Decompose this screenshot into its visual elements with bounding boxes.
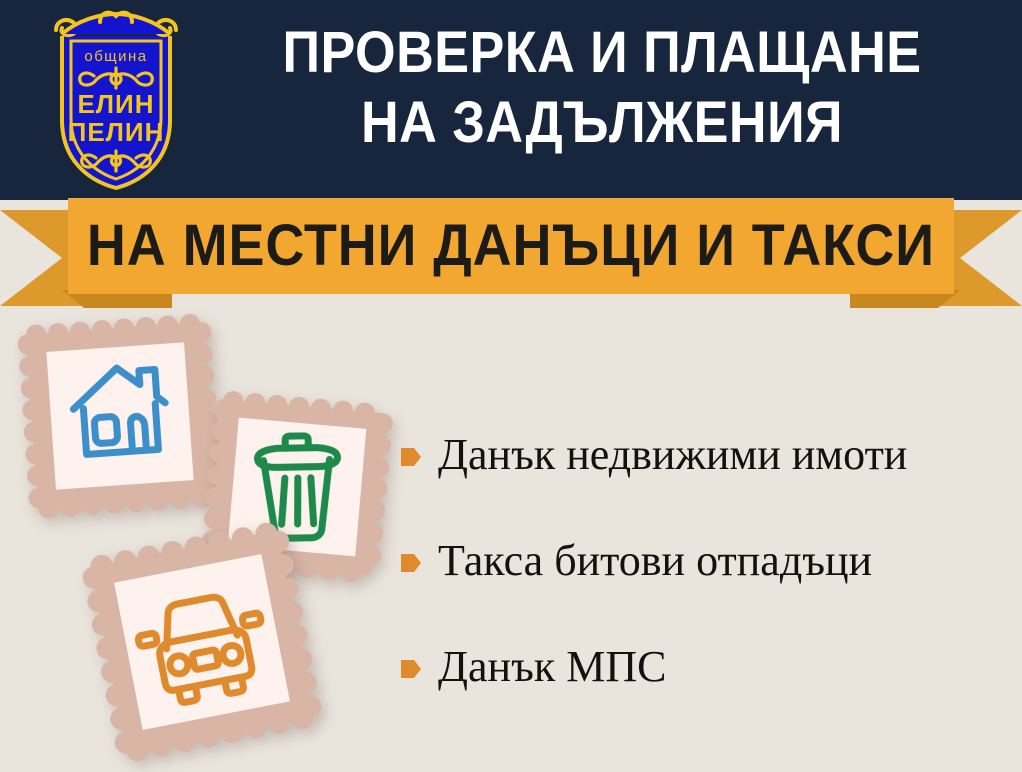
page-title-line-1: ПРОВЕРКА И ПЛАЩАНЕ bbox=[237, 18, 968, 88]
arrow-bullet-icon bbox=[400, 445, 422, 469]
poster-root: община ЕЛИН ПЕЛИН bbox=[0, 0, 1022, 772]
stamp-card-vehicle bbox=[78, 518, 327, 767]
arrow-bullet-icon bbox=[400, 657, 422, 681]
page-title: ПРОВЕРКА И ПЛАЩАНЕ НА ЗАДЪЛЖЕНИЯ bbox=[237, 18, 968, 158]
list-item-label: Данък недвижими имоти bbox=[438, 430, 907, 480]
crest-municipality-word: община bbox=[84, 48, 147, 65]
list-item[interactable]: Данък МПС bbox=[400, 640, 1010, 694]
page-title-line-2: НА ЗАДЪЛЖЕНИЯ bbox=[237, 88, 968, 158]
coat-of-arms-shield-icon: община ЕЛИН ПЕЛИН bbox=[38, 8, 194, 193]
list-item-label: Данък МПС bbox=[438, 642, 666, 692]
arrow-bullet-icon bbox=[400, 551, 422, 575]
poster-header: община ЕЛИН ПЕЛИН bbox=[0, 0, 1022, 200]
service-list: Данък недвижими имоти Такса битови отпад… bbox=[400, 428, 1010, 746]
ribbon-band: НА МЕСТНИ ДАНЪЦИ И ТАКСИ bbox=[68, 198, 954, 294]
list-item-label: Такса битови отпадъци bbox=[438, 536, 872, 586]
crest-name-line1: ЕЛИН bbox=[77, 89, 154, 119]
crest-name-line2: ПЕЛИН bbox=[68, 117, 165, 147]
stamp-card-property bbox=[15, 311, 224, 520]
list-item[interactable]: Данък недвижими имоти bbox=[400, 428, 1010, 482]
ribbon-label: НА МЕСТНИ ДАНЪЦИ И ТАКСИ bbox=[87, 217, 935, 275]
ribbon-banner: НА МЕСТНИ ДАНЪЦИ И ТАКСИ bbox=[0, 198, 1022, 318]
list-item[interactable]: Такса битови отпадъци bbox=[400, 534, 1010, 588]
